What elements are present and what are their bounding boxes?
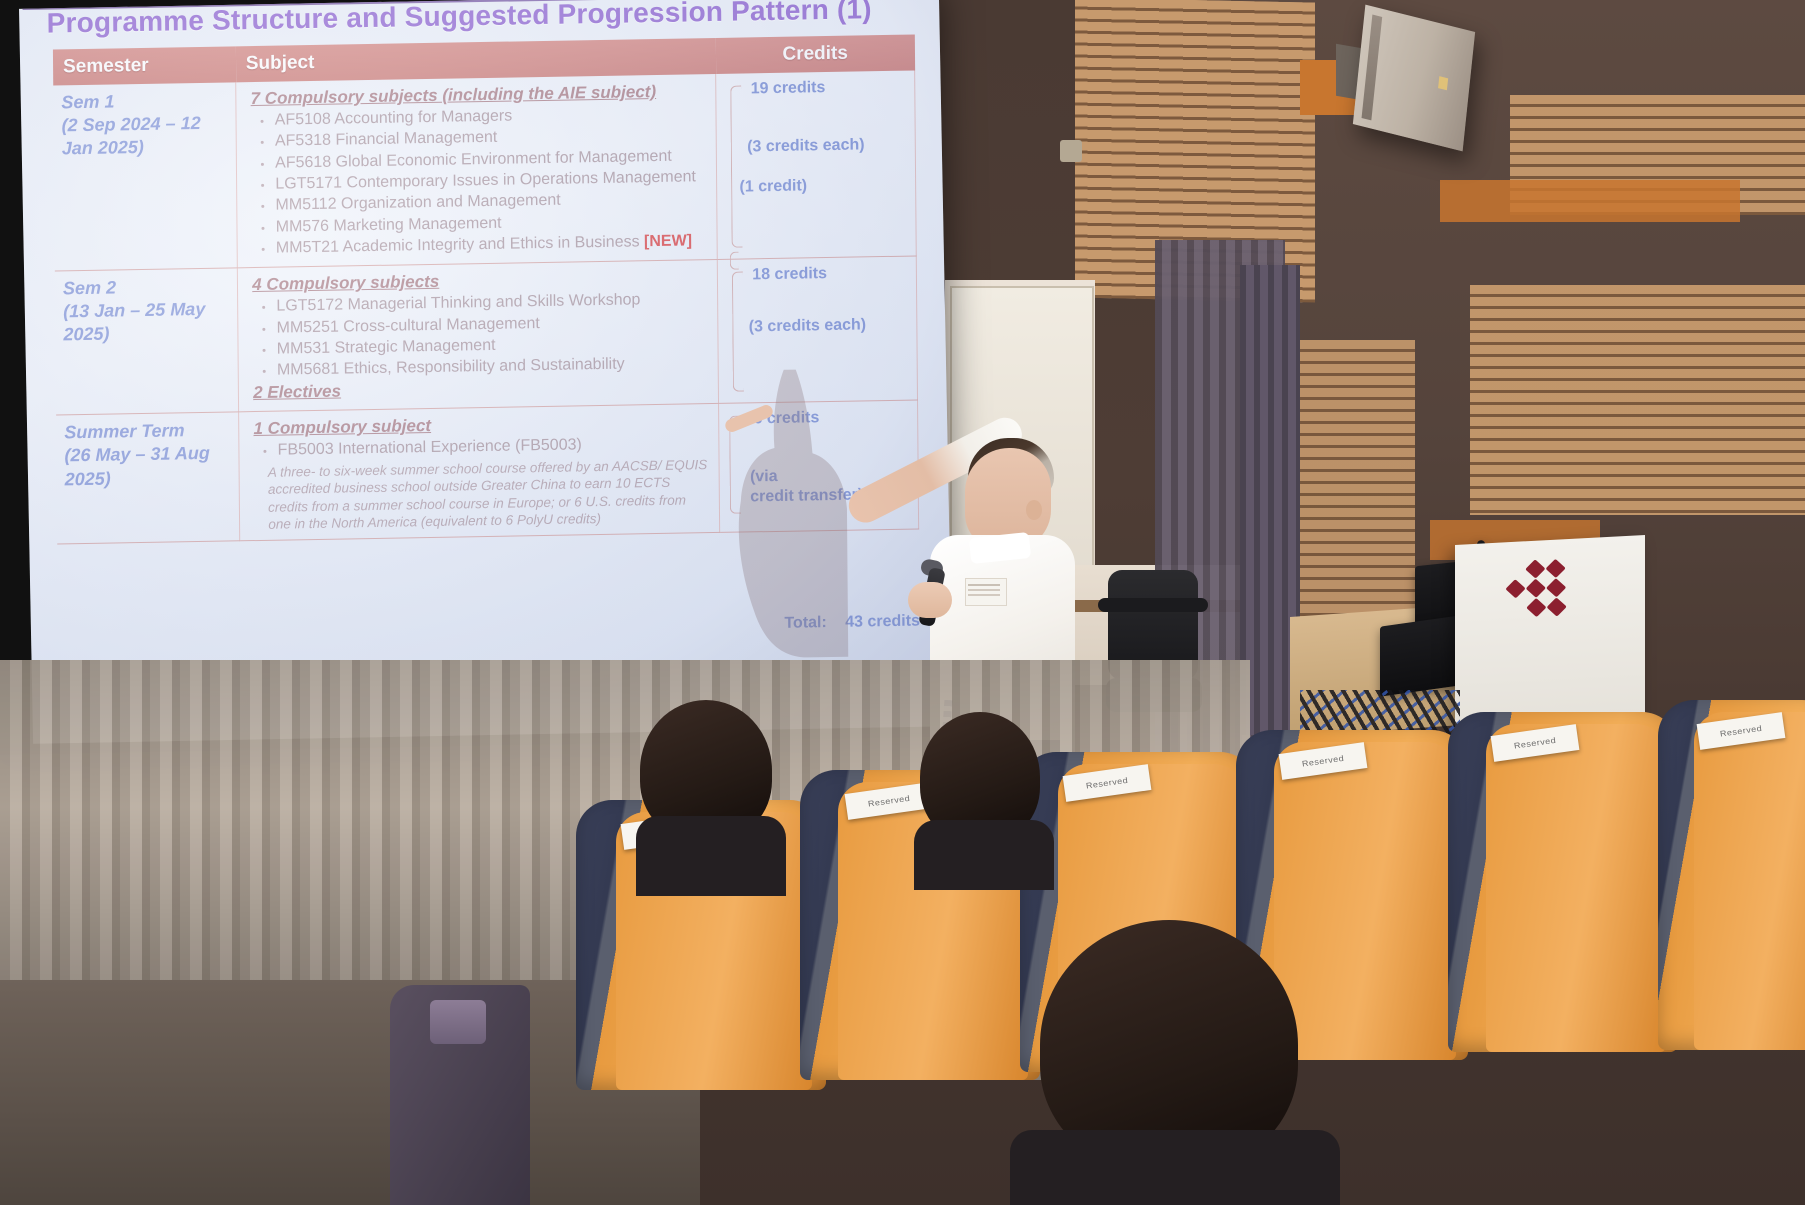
credits-each: (3 credits each) [749, 316, 909, 337]
new-badge: [NEW] [644, 232, 692, 250]
table-row: Sem 1 (2 Sep 2024 – 12 Jan 2025) 7 Compu… [53, 70, 916, 271]
audience-shoulders [1010, 1130, 1340, 1205]
column-header-credits: Credits [716, 34, 915, 73]
semester-dates: (13 Jan – 25 May 2025) [63, 298, 230, 347]
subject-cell-summer: 1 Compulsory subject FB5003 Internationa… [239, 404, 720, 541]
presenter-ear [1026, 500, 1042, 520]
semester-cell-sem1: Sem 1 (2 Sep 2024 – 12 Jan 2025) [53, 82, 237, 271]
seat-armrest-badge [430, 1000, 486, 1044]
reserved-label: Reserved [1513, 736, 1556, 751]
semester-cell-summer: Summer Term (26 May – 31 Aug 2025) [56, 412, 240, 544]
semester-name: Sem 2 [63, 275, 229, 301]
credits-cell-sem1: 19 credits (3 credits each) (1 credit) [716, 70, 916, 259]
seat-cushion [1486, 724, 1666, 1052]
credits-total: 19 credits [751, 78, 907, 99]
credits-total: 18 credits [752, 264, 908, 285]
slide-content: Innovation Education and Scholarship Pro… [22, 0, 948, 718]
reserved-label: Reserved [1085, 776, 1128, 791]
semester-name: Sem 1 [61, 88, 227, 114]
semester-dates: (26 May – 31 Aug 2025) [64, 442, 231, 491]
speaker-grill [1362, 15, 1383, 121]
seat-cushion [1694, 712, 1805, 1050]
wall-switch-plate [1060, 140, 1082, 162]
reserved-label: Reserved [1719, 724, 1762, 739]
subject-list-sem2: LGT5172 Managerial Thinking and Skills W… [246, 289, 710, 382]
reserved-label: Reserved [867, 794, 910, 809]
subject-cell-sem2: 4 Compulsory subjects LGT5172 Managerial… [238, 260, 719, 413]
orange-accent-band-2 [1440, 180, 1740, 222]
seat-cushion [1274, 742, 1456, 1060]
lecture-hall-photo: Innovation Education and Scholarship Pro… [0, 0, 1805, 1205]
arm-tattoo [901, 453, 955, 514]
reserved-label: Reserved [1301, 754, 1344, 769]
name-badge-text [968, 584, 1000, 586]
subject-cell-sem1: 7 Compulsory subjects (including the AIE… [236, 74, 718, 268]
semester-cell-sem2: Sem 2 (13 Jan – 25 May 2025) [55, 268, 239, 415]
subject-label: MM5T21 Academic Integrity and Ethics in … [276, 233, 640, 256]
projection-screen: Innovation Education and Scholarship Pro… [19, 0, 953, 744]
slide-title: Programme Structure and Suggested Progre… [47, 0, 927, 40]
column-header-semester: Semester [53, 46, 236, 85]
semester-dates: (2 Sep 2024 – 12 Jan 2025) [61, 112, 228, 161]
credits-each: (3 credits each) [747, 136, 907, 157]
subject-list-sem1: AF5108 Accounting for Managers AF5318 Fi… [245, 103, 709, 260]
name-badge [965, 578, 1007, 606]
brace-icon [731, 86, 743, 248]
subject-description: A three- to six-week summer school cours… [268, 456, 712, 534]
presenter-hand-holding-mic [908, 582, 952, 618]
speaker-led [1438, 76, 1448, 90]
semester-name: Summer Term [64, 419, 230, 445]
audience-shoulders [914, 820, 1054, 890]
credits-one: (1 credit) [739, 176, 907, 197]
wood-slat-panel-right [1470, 285, 1805, 515]
audience-shoulders [636, 816, 786, 896]
